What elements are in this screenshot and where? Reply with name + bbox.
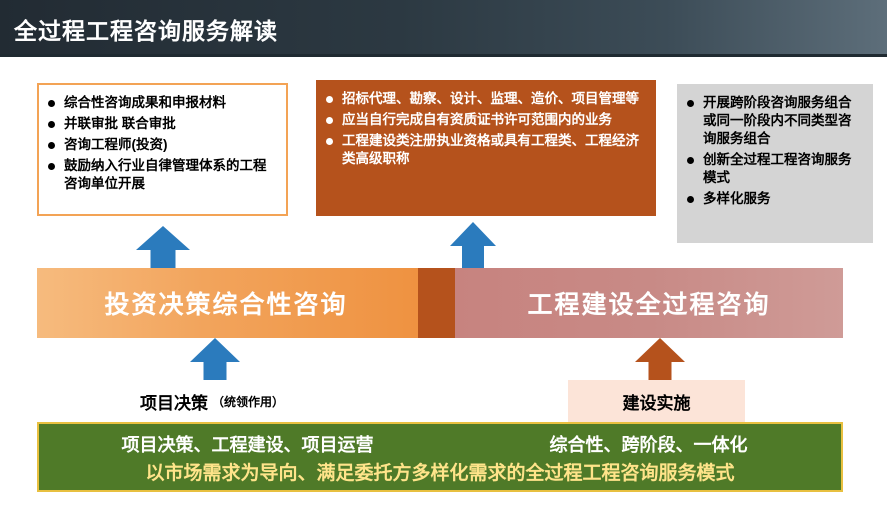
list-item: 鼓励纳入行业自律管理体系的工程咨询单位开展 bbox=[47, 157, 276, 193]
label-construction-implementation: 建设实施 bbox=[568, 380, 745, 422]
list-item: 并联审批 联合审批 bbox=[47, 115, 276, 133]
list-item: 工程建设类注册执业资格或具有工程类、工程经济类高级职称 bbox=[325, 132, 645, 168]
list-item-text: 应当自行完成自有资质证书许可范围内的业务 bbox=[342, 112, 612, 127]
list-item-text: 工程建设类注册执业资格或具有工程类、工程经济类高级职称 bbox=[342, 133, 639, 166]
callout-middle: 招标代理、勘察、设计、监理、造价、项目管理等 应当自行完成自有资质证书许可范围内… bbox=[316, 80, 656, 216]
list-item: 应当自行完成自有资质证书许可范围内的业务 bbox=[325, 111, 645, 129]
summary-block: 项目决策、工程建设、项目运营 综合性、跨阶段、一体化 以市场需求为导向、满足委托… bbox=[37, 422, 843, 492]
arrow-up-icon-left bbox=[136, 226, 190, 270]
bullet-icon bbox=[687, 100, 694, 107]
band-label-construction: 工程建设全过程咨询 bbox=[527, 285, 770, 321]
list-item-text: 招标代理、勘察、设计、监理、造价、项目管理等 bbox=[342, 91, 639, 106]
callout-right-list: 开展跨阶段咨询服务组合或同一阶段内不同类型咨询服务组合 创新全过程工程咨询服务模… bbox=[686, 94, 862, 208]
summary-row-top: 项目决策、工程建设、项目运营 综合性、跨阶段、一体化 bbox=[39, 431, 841, 457]
list-item: 招标代理、勘察、设计、监理、造价、项目管理等 bbox=[325, 90, 645, 108]
list-item-text: 并联审批 联合审批 bbox=[64, 116, 176, 131]
title-bar: 全过程工程咨询服务解读 bbox=[0, 0, 887, 57]
arrow-up-icon-decision bbox=[190, 338, 240, 383]
label-project-decision-sub: （统领作用） bbox=[212, 393, 284, 410]
title-bar-accent bbox=[0, 54, 887, 57]
summary-row-bottom: 以市场需求为导向、满足委托方多样化需求的全过程工程咨询服务模式 bbox=[39, 458, 841, 485]
list-item-text: 多样化服务 bbox=[703, 191, 771, 206]
list-item: 咨询工程师(投资) bbox=[47, 136, 276, 154]
list-item-text: 综合性咨询成果和申报材料 bbox=[64, 95, 226, 110]
summary-right-text: 综合性、跨阶段、一体化 bbox=[456, 431, 841, 457]
bullet-icon bbox=[326, 96, 333, 103]
summary-left-text: 项目决策、工程建设、项目运营 bbox=[39, 431, 456, 457]
arrow-shaft bbox=[151, 249, 176, 270]
bullet-icon bbox=[48, 121, 55, 128]
callout-middle-list: 招标代理、勘察、设计、监理、造价、项目管理等 应当自行完成自有资质证书许可范围内… bbox=[325, 90, 645, 168]
list-item-text: 开展跨阶段咨询服务组合或同一阶段内不同类型咨询服务组合 bbox=[703, 95, 852, 146]
bullet-icon bbox=[326, 138, 333, 145]
band-segment-investment: 投资决策综合性咨询 bbox=[37, 268, 455, 338]
arrow-up-icon-construction bbox=[635, 338, 685, 383]
bullet-icon bbox=[48, 163, 55, 170]
callout-left-list: 综合性咨询成果和申报材料 并联审批 联合审批 咨询工程师(投资) 鼓励纳入行业自… bbox=[47, 94, 276, 193]
bullet-icon bbox=[48, 142, 55, 149]
band-divider bbox=[418, 268, 455, 338]
label-construction-implementation-main: 建设实施 bbox=[623, 389, 691, 414]
band-segment-construction: 工程建设全过程咨询 bbox=[455, 268, 843, 338]
list-item: 多样化服务 bbox=[686, 190, 862, 208]
list-item: 创新全过程工程咨询服务模式 bbox=[686, 151, 862, 187]
arrow-head bbox=[450, 222, 496, 246]
arrow-head bbox=[190, 338, 240, 362]
arrow-head bbox=[136, 226, 190, 250]
arrow-shaft bbox=[462, 245, 484, 270]
list-item-text: 创新全过程工程咨询服务模式 bbox=[703, 152, 852, 185]
main-band: 投资决策综合性咨询 工程建设全过程咨询 bbox=[37, 268, 843, 338]
list-item-text: 咨询工程师(投资) bbox=[64, 137, 168, 152]
list-item-text: 鼓励纳入行业自律管理体系的工程咨询单位开展 bbox=[64, 158, 267, 191]
bullet-icon bbox=[48, 100, 55, 107]
label-project-decision-main: 项目决策 bbox=[140, 389, 208, 414]
arrow-up-icon-middle bbox=[450, 222, 496, 270]
list-item: 开展跨阶段咨询服务组合或同一阶段内不同类型咨询服务组合 bbox=[686, 94, 862, 148]
bullet-icon bbox=[687, 196, 694, 203]
bullet-icon bbox=[326, 117, 333, 124]
list-item: 综合性咨询成果和申报材料 bbox=[47, 94, 276, 112]
label-project-decision: 项目决策 （统领作用） bbox=[112, 380, 312, 422]
callout-right: 开展跨阶段咨询服务组合或同一阶段内不同类型咨询服务组合 创新全过程工程咨询服务模… bbox=[677, 84, 873, 243]
arrow-head bbox=[635, 338, 685, 362]
slide-root: 全过程工程咨询服务解读 综合性咨询成果和申报材料 并联审批 联合审批 咨询工程师… bbox=[0, 0, 887, 506]
bullet-icon bbox=[687, 157, 694, 164]
page-title: 全过程工程咨询服务解读 bbox=[14, 12, 278, 46]
callout-left: 综合性咨询成果和申报材料 并联审批 联合审批 咨询工程师(投资) 鼓励纳入行业自… bbox=[37, 83, 288, 216]
band-label-investment: 投资决策综合性咨询 bbox=[104, 285, 347, 321]
